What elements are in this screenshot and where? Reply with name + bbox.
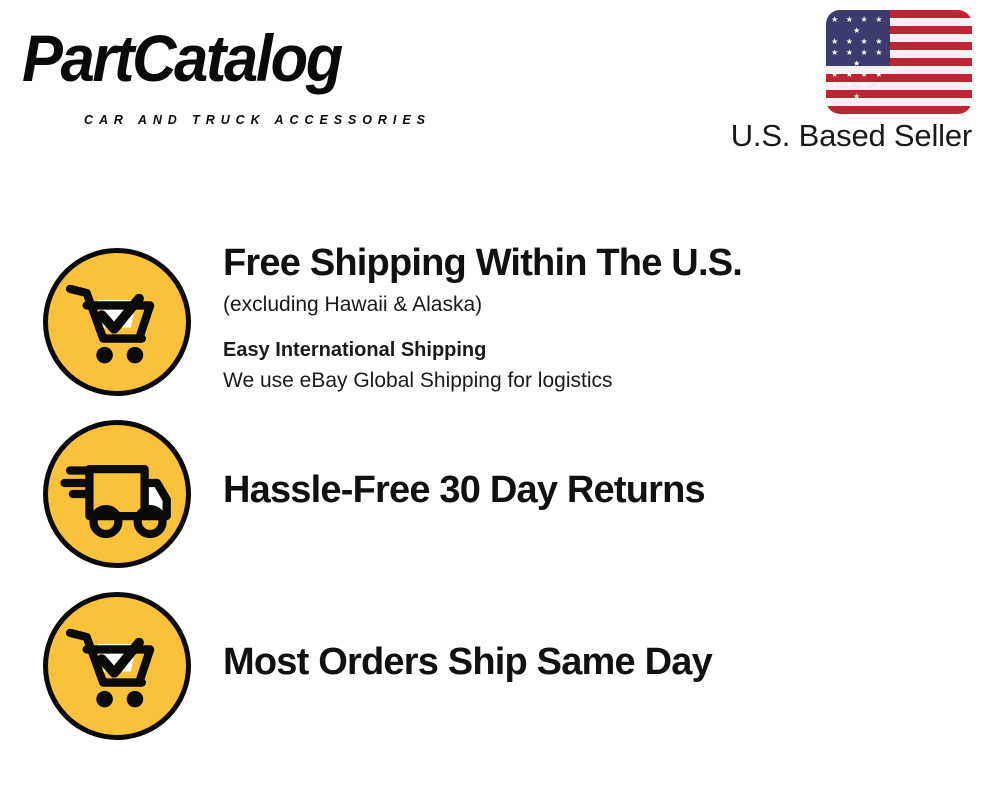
delivery-truck-icon	[43, 420, 191, 568]
feature-heading: Most Orders Ship Same Day	[223, 584, 963, 685]
feature-subtext-strong: Easy International Shipping	[223, 320, 963, 365]
shopping-cart-check-icon	[43, 248, 191, 396]
feature-item: Free Shipping Within The U.S. (excluding…	[40, 240, 960, 410]
feature-subtext: (excluding Hawaii & Alaska)	[223, 286, 963, 320]
feature-item: Hassle-Free 30 Day Returns	[40, 412, 960, 582]
feature-heading: Hassle-Free 30 Day Returns	[223, 412, 963, 513]
feature-subtext: We use eBay Global Shipping for logistic…	[223, 365, 963, 396]
shopping-cart-check-icon	[43, 592, 191, 740]
feature-item: Most Orders Ship Same Day	[40, 584, 960, 754]
feature-heading: Free Shipping Within The U.S.	[223, 240, 963, 286]
feature-text-block: Hassle-Free 30 Day Returns	[223, 412, 963, 513]
feature-text-block: Free Shipping Within The U.S. (excluding…	[223, 240, 963, 396]
feature-text-block: Most Orders Ship Same Day	[223, 584, 963, 685]
feature-list: Free Shipping Within The U.S. (excluding…	[0, 0, 1000, 800]
